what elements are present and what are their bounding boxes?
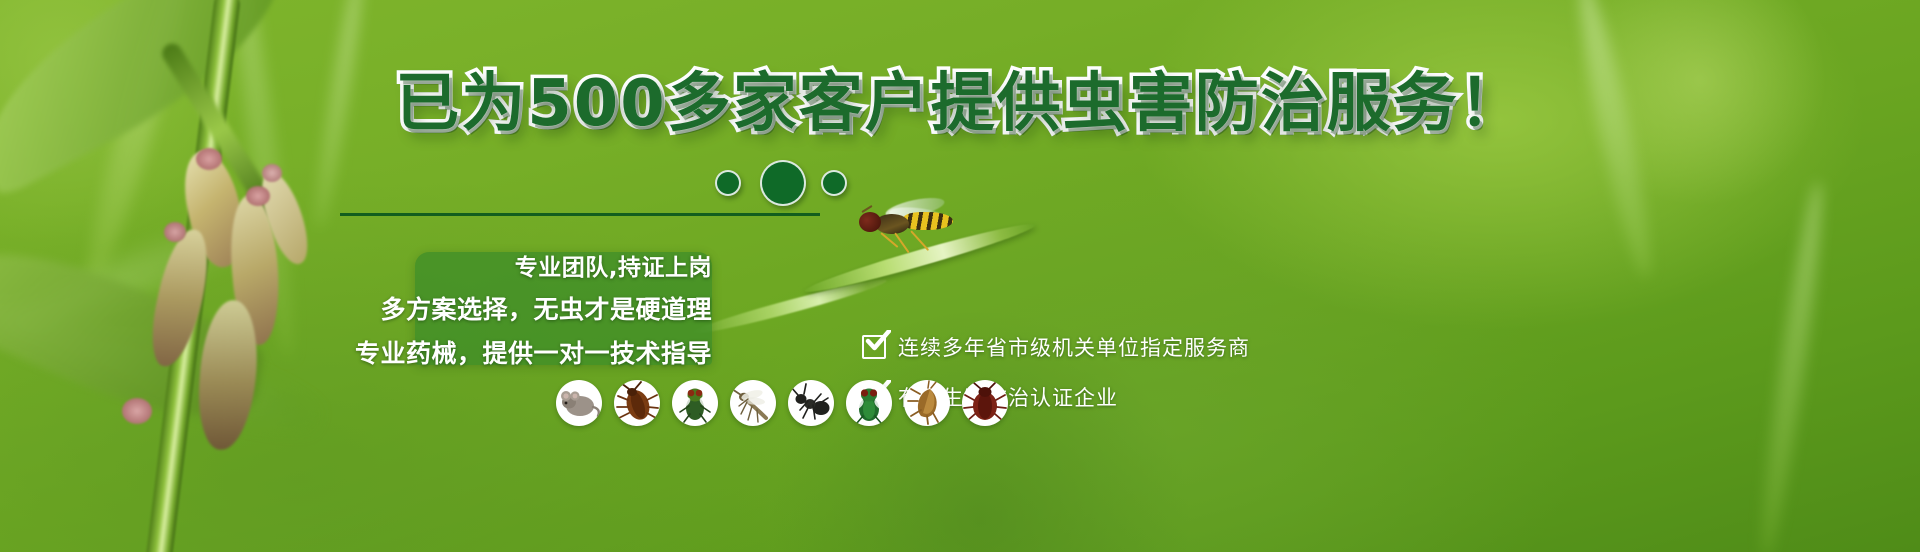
fly-icon[interactable]: 苍蝇 <box>672 380 718 426</box>
fly-abdomen <box>903 212 953 230</box>
selling-point-3: 专业药械，提供一对一技术指导 <box>355 334 712 370</box>
mouse-icon[interactable]: 老鼠 <box>556 380 602 426</box>
credential-row: 连续多年省市级机关单位指定服务商 <box>862 332 1250 362</box>
pest-types-strip: 老鼠 蟑螂 苍蝇 <box>556 380 1008 426</box>
horizontal-divider <box>340 213 820 216</box>
hoverfly-photo <box>855 198 955 250</box>
pest-control-hero-banner: 已为500多家客户提供虫害防治服务！ 专业团队,持证上岗 多方案选择，无虫才是硬… <box>0 0 1920 552</box>
selling-point-2: 多方案选择，无虫才是硬道理 <box>380 290 712 326</box>
dot-large-center-icon <box>760 160 806 206</box>
blowfly-icon[interactable]: 绿头蝇 <box>846 380 892 426</box>
fly-leg <box>910 230 929 251</box>
flower-bud-tip <box>246 186 270 206</box>
flower-bud-tip <box>122 398 152 424</box>
bedbug-icon[interactable]: 臭虫 <box>962 380 1008 426</box>
dot-small-right-icon <box>821 170 847 196</box>
mosquito-icon[interactable]: 蚊子 <box>730 380 776 426</box>
flower-bud-tip <box>196 148 222 170</box>
selling-point-1: 专业团队,持证上岗 <box>515 248 712 282</box>
decorative-dots <box>715 160 875 202</box>
ant-icon[interactable]: 蚂蚁 <box>788 380 834 426</box>
banner-headline: 已为500多家客户提供虫害防治服务！ <box>0 72 1920 136</box>
checkbox-checked-icon <box>862 335 886 359</box>
dot-small-left-icon <box>715 170 741 196</box>
flower-bud-tip <box>262 164 282 182</box>
flower-bud-tip <box>164 222 186 242</box>
selling-points-list: 专业团队,持证上岗 多方案选择，无虫才是硬道理 专业药械，提供一对一技术指导 <box>330 252 730 365</box>
credential-label: 连续多年省市级机关单位指定服务商 <box>898 332 1250 362</box>
cockroach-icon[interactable]: 蟑螂 <box>614 380 660 426</box>
fly-head <box>859 212 881 232</box>
banner-headline-text: 已为500多家客户提供虫害防治服务！ <box>395 67 1525 141</box>
flea-icon[interactable]: 跳蚤 <box>904 380 950 426</box>
